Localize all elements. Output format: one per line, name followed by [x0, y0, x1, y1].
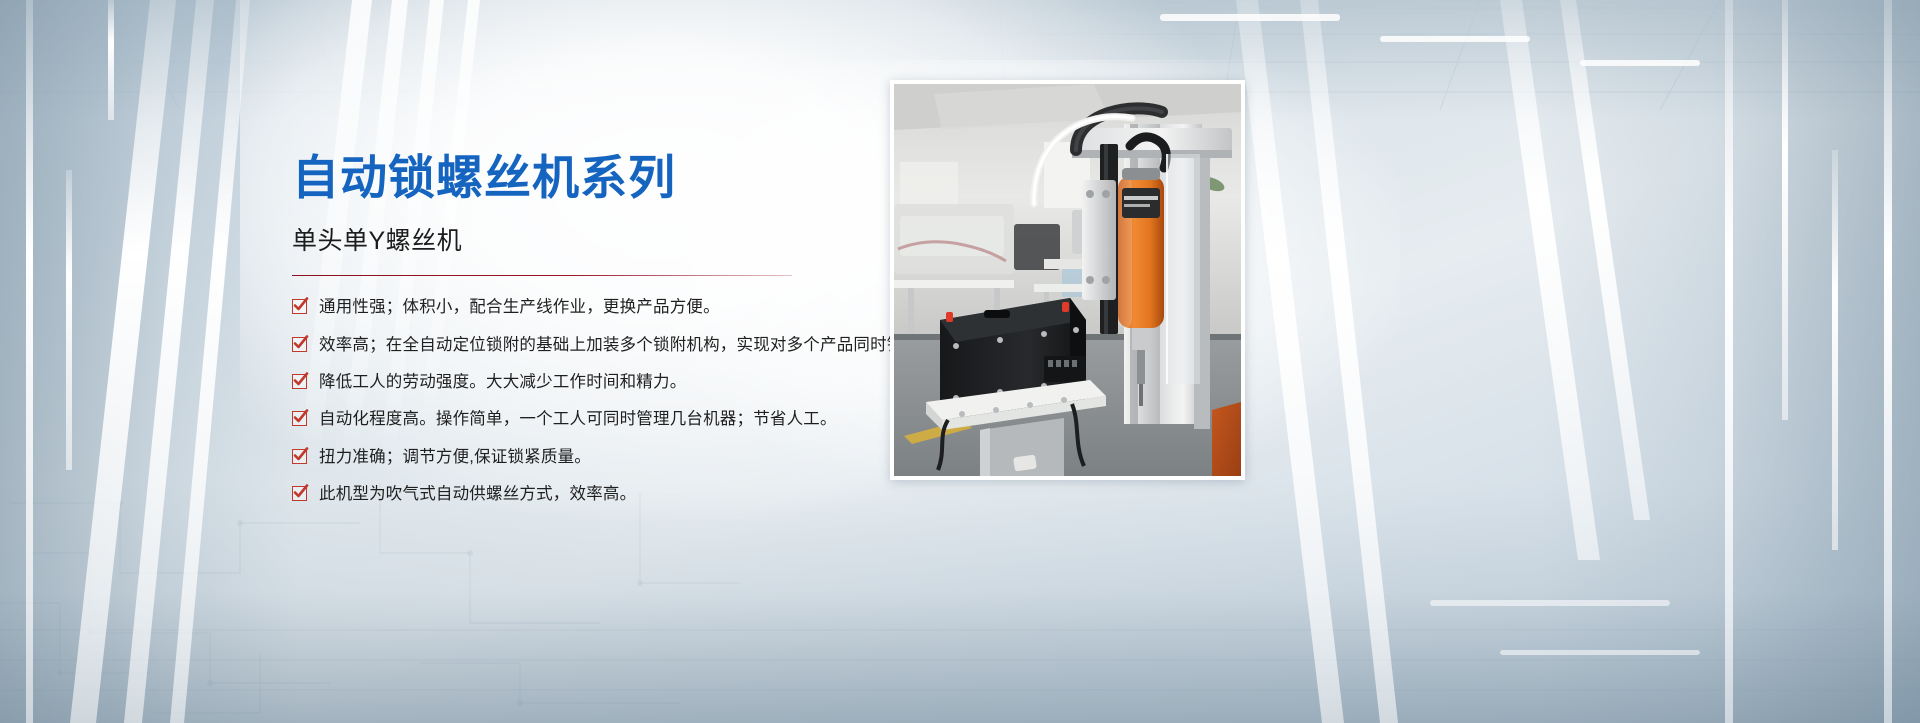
checkbox-checked-icon [292, 299, 307, 314]
feature-text: 此机型为吹气式自动供螺丝方式，效率高。 [319, 483, 636, 505]
checkbox-checked-icon [292, 486, 307, 501]
feature-text: 降低工人的劳动强度。大大减少工作时间和精力。 [319, 371, 686, 393]
list-item: 此机型为吹气式自动供螺丝方式，效率高。 [292, 483, 992, 505]
checkbox-checked-icon [292, 337, 307, 352]
list-item: 通用性强；体积小，配合生产线作业，更换产品方便。 [292, 296, 992, 318]
checkbox-checked-icon [292, 449, 307, 464]
list-item: 降低工人的劳动强度。大大减少工作时间和精力。 [292, 371, 992, 393]
checkbox-checked-icon [292, 411, 307, 426]
machine-photo-illustration [894, 84, 1241, 476]
checkbox-checked-icon [292, 374, 307, 389]
feature-list: 通用性强；体积小，配合生产线作业，更换产品方便。 效率高；在全自动定位锁附的基础… [292, 296, 992, 505]
product-photo-frame [890, 80, 1245, 480]
page-title: 自动锁螺丝机系列 [292, 150, 992, 205]
list-item: 效率高；在全自动定位锁附的基础上加装多个锁附机构，实现对多个产品同时锁附。 [292, 334, 992, 356]
product-banner: 自动锁螺丝机系列 单头单Y螺丝机 通用性强；体积小，配合生产线作业，更换产品方便… [0, 0, 1920, 723]
banner-content: 自动锁螺丝机系列 单头单Y螺丝机 通用性强；体积小，配合生产线作业，更换产品方便… [292, 150, 992, 520]
page-subtitle: 单头单Y螺丝机 [292, 221, 992, 257]
feature-text: 效率高；在全自动定位锁附的基础上加装多个锁附机构，实现对多个产品同时锁附。 [319, 334, 937, 356]
list-item: 扭力准确；调节方便,保证锁紧质量。 [292, 446, 992, 468]
right-vignette [1540, 0, 1920, 723]
feature-text: 扭力准确；调节方便,保证锁紧质量。 [319, 446, 591, 468]
list-item: 自动化程度高。操作简单，一个工人可同时管理几台机器；节省人工。 [292, 408, 992, 430]
left-vignette [0, 0, 300, 723]
product-photo [894, 84, 1241, 476]
feature-text: 自动化程度高。操作简单，一个工人可同时管理几台机器；节省人工。 [319, 408, 837, 430]
title-divider [292, 275, 792, 276]
feature-text: 通用性强；体积小，配合生产线作业，更换产品方便。 [319, 296, 720, 318]
